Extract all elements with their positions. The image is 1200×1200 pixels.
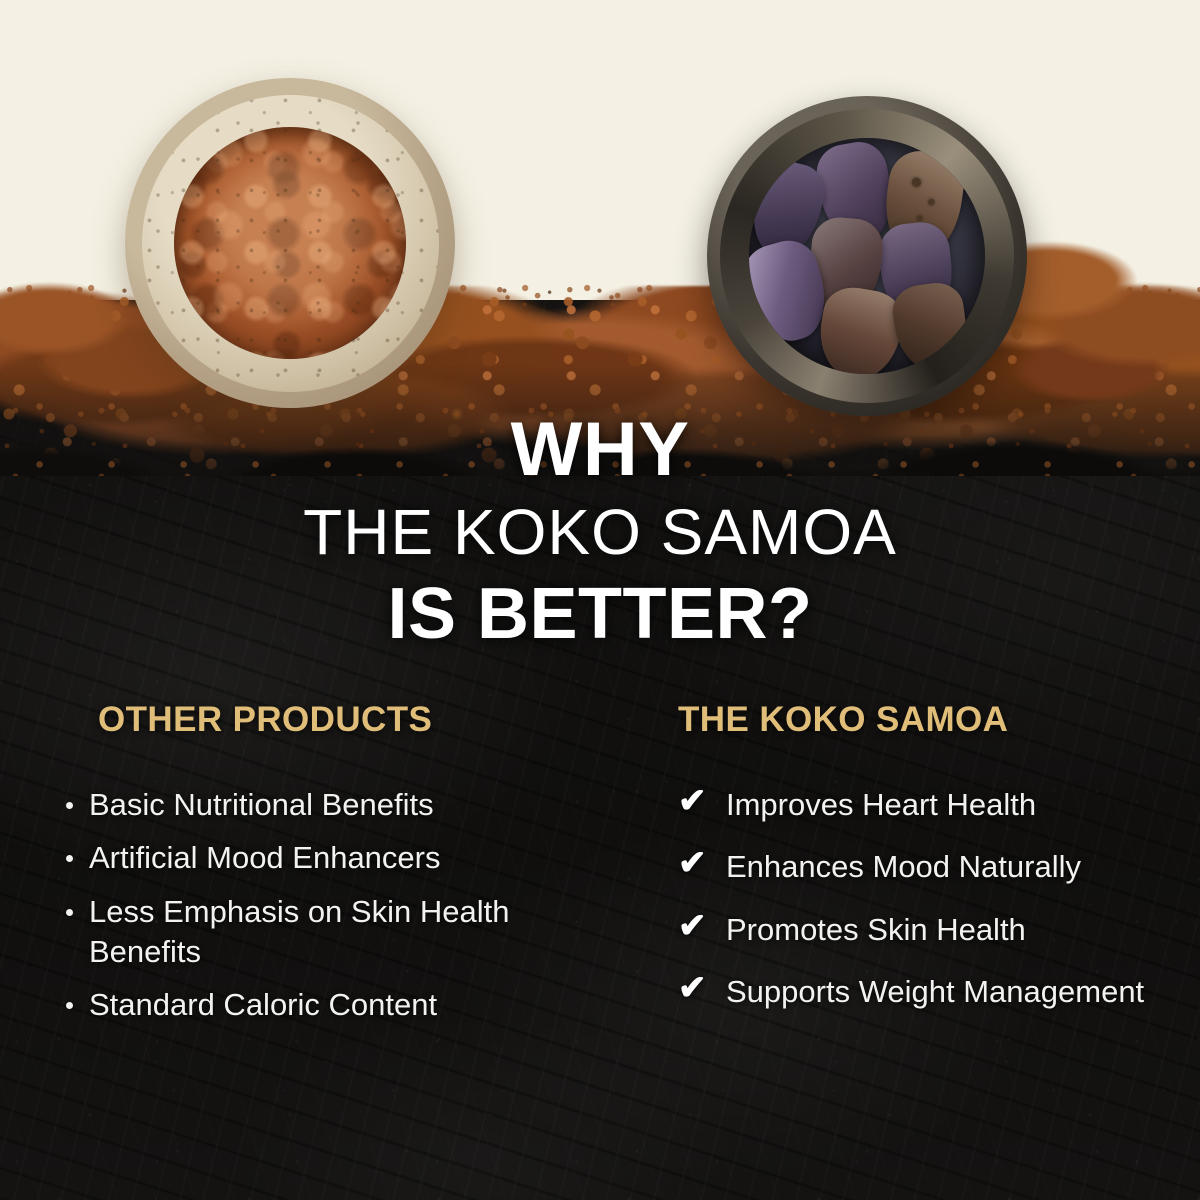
koko-samoa-blocks-bowl [707,96,1027,416]
list-item-label: Standard Caloric Content [89,985,437,1025]
list-item: ✔ Improves Heart Health [678,785,1168,825]
list-item: ✔ Enhances Mood Naturally [678,847,1168,887]
list-item-label: Artificial Mood Enhancers [89,838,441,878]
cocoa-powder-bowl-rim [142,95,439,392]
check-icon: ✔ [678,909,726,945]
list-item: Standard Caloric Content [66,985,556,1025]
column-the-koko-samoa: THE KOKO SAMOA ✔ Improves Heart Health ✔… [600,700,1200,1150]
list-item: ✔ Promotes Skin Health [678,910,1168,950]
list-item: ✔ Supports Weight Management [678,972,1168,1012]
cacao-block-speck [928,199,935,206]
bullet-dot-icon [66,1002,73,1009]
list-item: Less Emphasis on Skin Health Benefits [66,892,556,973]
koko-samoa-benefits-list: ✔ Improves Heart Health ✔ Enhances Mood … [678,785,1200,1012]
headline-line-2: THE KOKO SAMOA [0,500,1200,564]
cocoa-powder-fill [174,127,406,359]
koko-samoa-comparison-poster: WHY THE KOKO SAMOA IS BETTER? OTHER PROD… [0,0,1200,1200]
list-item: Basic Nutritional Benefits [66,785,556,825]
column-other-products: OTHER PRODUCTS Basic Nutritional Benefit… [0,700,600,1150]
check-icon: ✔ [678,971,726,1007]
bullet-dot-icon [66,855,73,862]
other-products-list: Basic Nutritional Benefits Artificial Mo… [66,785,600,1025]
list-item-label: Improves Heart Health [726,785,1036,825]
comparison-section: OTHER PRODUCTS Basic Nutritional Benefit… [0,700,1200,1150]
headline-line-1: WHY [0,412,1200,488]
list-item: Artificial Mood Enhancers [66,838,556,878]
check-icon: ✔ [678,846,726,882]
koko-samoa-bowl-rim [720,109,1014,403]
list-item-label: Supports Weight Management [726,972,1144,1012]
headline-line-3: IS BETTER? [0,578,1200,650]
column-header-other-products: OTHER PRODUCTS [98,700,600,740]
list-item-label: Less Emphasis on Skin Health Benefits [89,892,556,973]
column-header-the-koko-samoa: THE KOKO SAMOA [678,700,1200,740]
check-icon: ✔ [678,784,726,820]
koko-samoa-bowl-interior [749,138,985,374]
cacao-block-speck [911,177,921,187]
list-item-label: Enhances Mood Naturally [726,847,1081,887]
cocoa-powder-bowl [125,78,455,408]
list-item-label: Basic Nutritional Benefits [89,785,434,825]
poster-headline: WHY THE KOKO SAMOA IS BETTER? [0,412,1200,650]
bullet-dot-icon [66,909,73,916]
bullet-dot-icon [66,802,73,809]
list-item-label: Promotes Skin Health [726,910,1026,950]
cacao-block-speck [917,216,923,222]
cacao-block [890,280,972,374]
